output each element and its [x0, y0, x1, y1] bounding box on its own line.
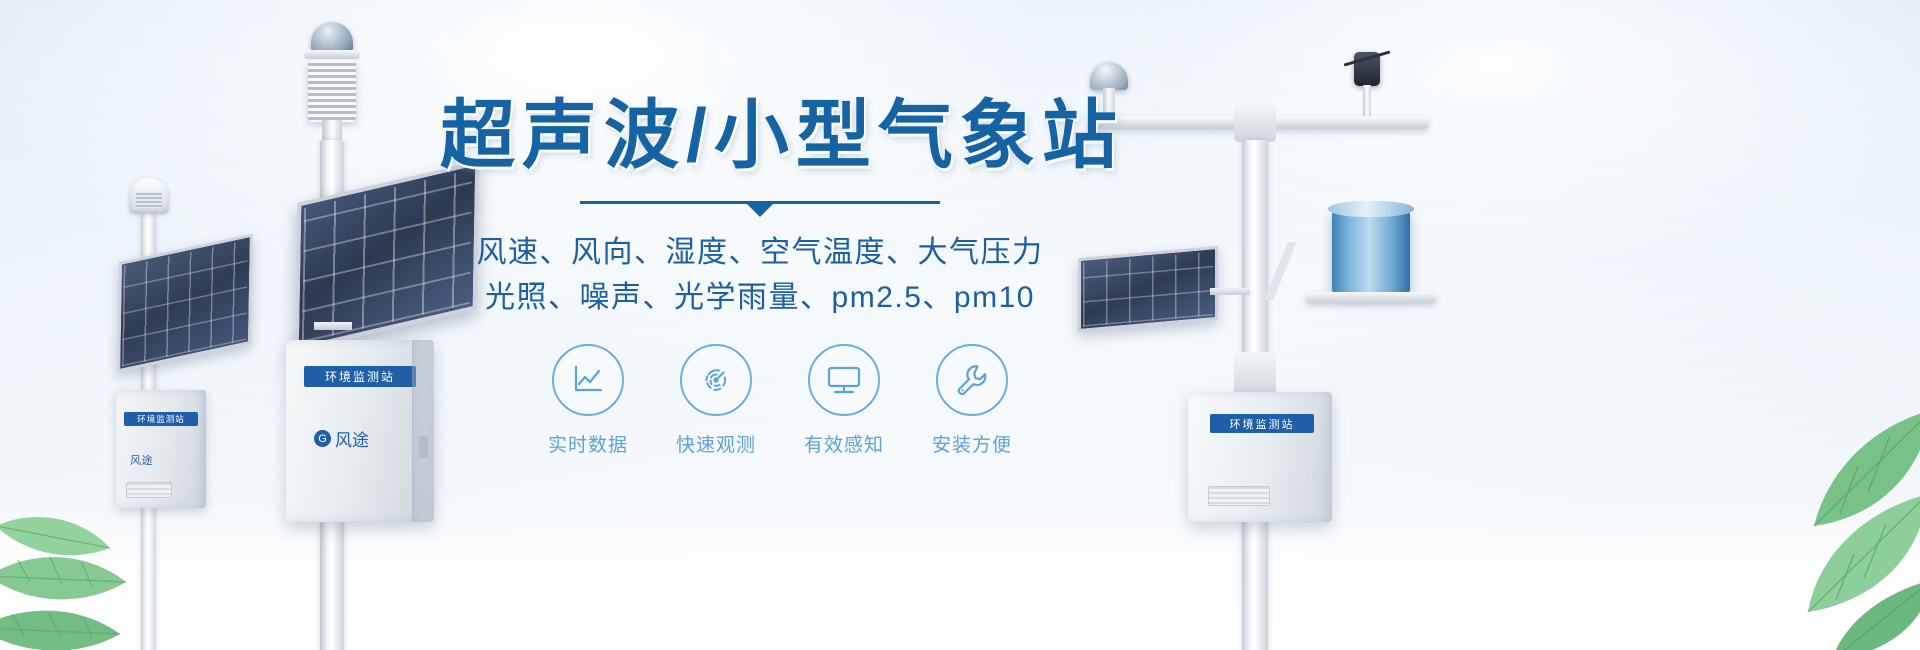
feature-icon-circle — [680, 344, 752, 416]
subtitle-line-1: 风速、风向、湿度、空气温度、大气压力 — [440, 230, 1080, 276]
feature-item-realtime-data[interactable]: 实时数据 — [540, 344, 636, 457]
feature-icon-circle — [552, 344, 624, 416]
line-chart-icon — [570, 362, 606, 398]
banner-stage: 环境监测站 风途 环境监测站 G 风途 — [0, 0, 1920, 650]
brand-name: 风途 — [335, 426, 369, 451]
radiation-shield-sensor — [129, 178, 169, 214]
ultrasonic-dome-sensor — [311, 22, 353, 52]
feature-list: 实时数据 — [540, 344, 1020, 457]
feature-label: 快速观测 — [676, 430, 756, 457]
cabinet-door — [412, 340, 434, 522]
brand-logo: G 风途 — [314, 426, 369, 451]
control-cabinet: 环境监测站 G 风途 — [286, 340, 434, 522]
wrench-icon — [953, 361, 991, 399]
rain-gauge-bucket — [1332, 210, 1410, 294]
feature-item-easy-install[interactable]: 安装方便 — [924, 344, 1020, 457]
solar-panel — [1078, 246, 1218, 332]
rain-sensor-stem — [1363, 85, 1371, 119]
leaf-decoration-right — [1632, 374, 1920, 650]
control-cabinet: 环境监测站 — [1188, 392, 1332, 522]
sensor-cap — [304, 50, 360, 59]
radiation-shield — [308, 60, 356, 122]
feature-label: 安装方便 — [932, 430, 1012, 457]
solar-panel — [117, 233, 253, 372]
cabinet-tag-label: 环境监测站 — [1210, 414, 1314, 433]
solar-panel-arm — [1210, 288, 1250, 295]
feature-item-fast-observation[interactable]: 快速观测 — [668, 344, 764, 457]
leaf-decoration-left — [0, 456, 228, 650]
feature-icon-circle — [808, 344, 880, 416]
mast-joint-upper — [1234, 104, 1276, 142]
page-title: 超声波/小型气象站 — [440, 96, 1080, 175]
cabinet-latch — [419, 436, 428, 458]
feature-item-effective-sensing[interactable]: 有效感知 — [796, 344, 892, 457]
subtitle-block: 风速、风向、湿度、空气温度、大气压力 光照、噪声、光学雨量、pm2.5、pm10 — [440, 230, 1080, 321]
optical-rain-sensor — [1354, 52, 1380, 86]
cabinet-tag-label: 环境监测站 — [304, 366, 416, 387]
headline-block: 超声波/小型气象站 风速、风向、湿度、空气温度、大气压力 光照、噪声、光学雨量、… — [440, 96, 1080, 321]
brand-mark-icon: G — [314, 430, 331, 447]
equipment-shelf — [1306, 292, 1436, 303]
cabinet-tag-label: 环境监测站 — [124, 412, 198, 426]
cabinet-vent — [1208, 486, 1270, 506]
feature-label: 实时数据 — [548, 430, 628, 457]
radar-gauge-icon — [698, 362, 734, 398]
monitor-icon — [825, 363, 863, 397]
feature-icon-circle — [936, 344, 1008, 416]
feature-label: 有效感知 — [804, 430, 884, 457]
title-divider — [580, 201, 940, 204]
ultrasonic-wind-sensor — [1090, 62, 1128, 90]
subtitle-line-2: 光照、噪声、光学雨量、pm2.5、pm10 — [440, 275, 1080, 321]
mounting-arm — [314, 322, 352, 330]
